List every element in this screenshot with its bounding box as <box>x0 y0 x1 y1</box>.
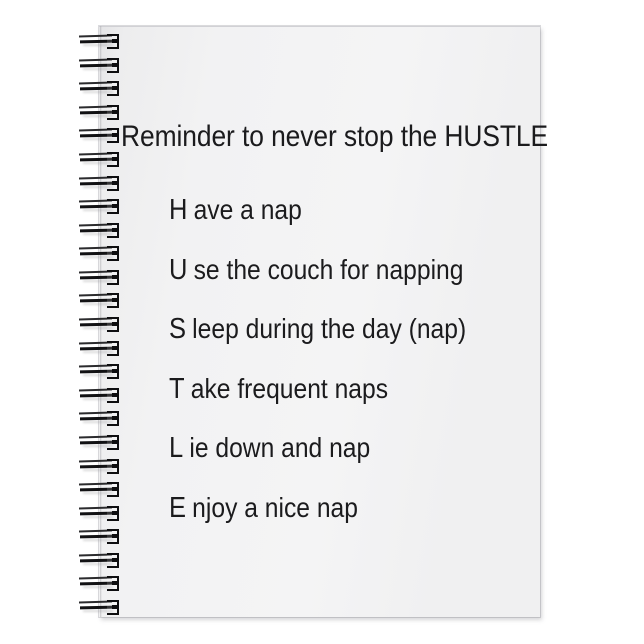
page-title: Reminder to never stop the HUSTLE <box>121 122 482 152</box>
acrostic-line: Take frequent naps <box>169 375 495 403</box>
acrostic-line: Lie down and nap <box>169 434 495 462</box>
acrostic-line: Enjoy a nice nap <box>169 494 495 522</box>
acrostic-lead-letter: S <box>169 313 186 345</box>
acrostic-line-text: se the couch for napping <box>194 254 464 285</box>
acrostic-line-text: njoy a nice nap <box>192 492 358 523</box>
cover-content: Reminder to never stop the HUSTLE Have a… <box>99 26 540 617</box>
acrostic-line-text: ake frequent naps <box>191 373 388 404</box>
acrostic-line-text: leep during the day (nap) <box>192 313 466 344</box>
acrostic-line: Sleep during the day (nap) <box>169 315 495 343</box>
acrostic-line: Have a nap <box>169 196 495 224</box>
acrostic-lead-letter: U <box>169 254 187 286</box>
acrostic-lead-letter: H <box>169 194 187 226</box>
acrostic-line: Use the couch for napping <box>169 256 495 284</box>
acrostic-lead-letter: L <box>169 432 183 464</box>
product-image-scene: Reminder to never stop the HUSTLE Have a… <box>0 0 644 644</box>
acrostic-lead-letter: E <box>169 492 186 524</box>
acrostic-line-text: ave a nap <box>194 194 302 225</box>
acrostic-lead-letter: T <box>169 373 185 405</box>
acrostic-line-text: ie down and nap <box>189 432 370 463</box>
acrostic-list: Have a napUse the couch for nappingSleep… <box>169 196 539 553</box>
